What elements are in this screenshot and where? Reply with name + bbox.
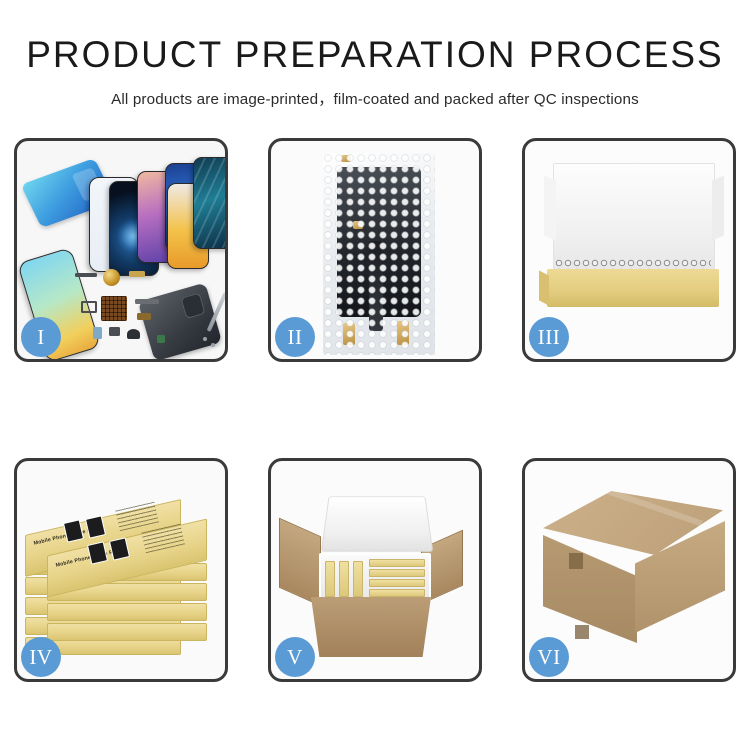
bubble-wrap-bag	[323, 153, 435, 355]
screw-part	[211, 343, 215, 347]
carton-flap-left	[279, 518, 321, 607]
yellow-pack-item	[369, 559, 425, 567]
process-steps-grid: I II III	[14, 138, 736, 682]
process-step-panel-5: V	[268, 458, 482, 682]
process-step-panel-2: II	[268, 138, 482, 362]
flex-cable-part	[75, 273, 97, 277]
step-badge-1: I	[21, 317, 61, 357]
carton-body	[311, 597, 431, 657]
process-step-panel-3: III	[522, 138, 736, 362]
page-subtitle: All products are image-printed，film-coat…	[0, 87, 750, 109]
foam-lid	[321, 496, 433, 551]
step-badge-2: II	[275, 317, 315, 357]
yellow-box-base	[547, 269, 719, 307]
process-step-panel-6: VI	[522, 458, 736, 682]
carton-hand-hole	[575, 625, 589, 639]
yellow-pack-item	[369, 579, 425, 587]
sim-tray-part	[157, 335, 165, 343]
chip-array-part	[101, 296, 127, 321]
step-badge-5: V	[275, 637, 315, 677]
carton-left-face	[543, 535, 637, 643]
carton-hand-hole	[569, 553, 583, 569]
yellow-pack-item	[353, 561, 363, 597]
speaker-coil-part	[103, 269, 120, 286]
gold-connector-part	[129, 271, 145, 277]
yellow-pack-item	[325, 561, 335, 597]
vibrator-part	[137, 313, 151, 320]
antenna-strip-part	[135, 299, 159, 304]
page-title: PRODUCT PREPARATION PROCESS	[0, 36, 750, 75]
page-header: PRODUCT PREPARATION PROCESS All products…	[0, 0, 750, 109]
speaker-part	[127, 329, 140, 339]
camera-module-part	[109, 327, 120, 336]
yellow-pack-item	[369, 569, 425, 577]
bracket-part	[81, 301, 97, 313]
small-display-part	[93, 327, 102, 339]
yellow-pack-item	[369, 589, 425, 597]
bubble-wrap-texture	[323, 153, 435, 355]
screw-part	[203, 337, 207, 341]
foam-liner	[319, 553, 431, 601]
retail-box-stacked	[47, 623, 207, 641]
phone-teal-screen	[193, 157, 225, 249]
step-badge-4: IV	[21, 637, 61, 677]
retail-box-stacked	[47, 603, 207, 621]
process-step-panel-1: I	[14, 138, 228, 362]
step-badge-6: VI	[529, 637, 569, 677]
step-badge-3: III	[529, 317, 569, 357]
yellow-pack-item	[339, 561, 349, 597]
process-step-panel-4: Mobile Phone Spare Parts Mobile Phone Sp…	[14, 458, 228, 682]
